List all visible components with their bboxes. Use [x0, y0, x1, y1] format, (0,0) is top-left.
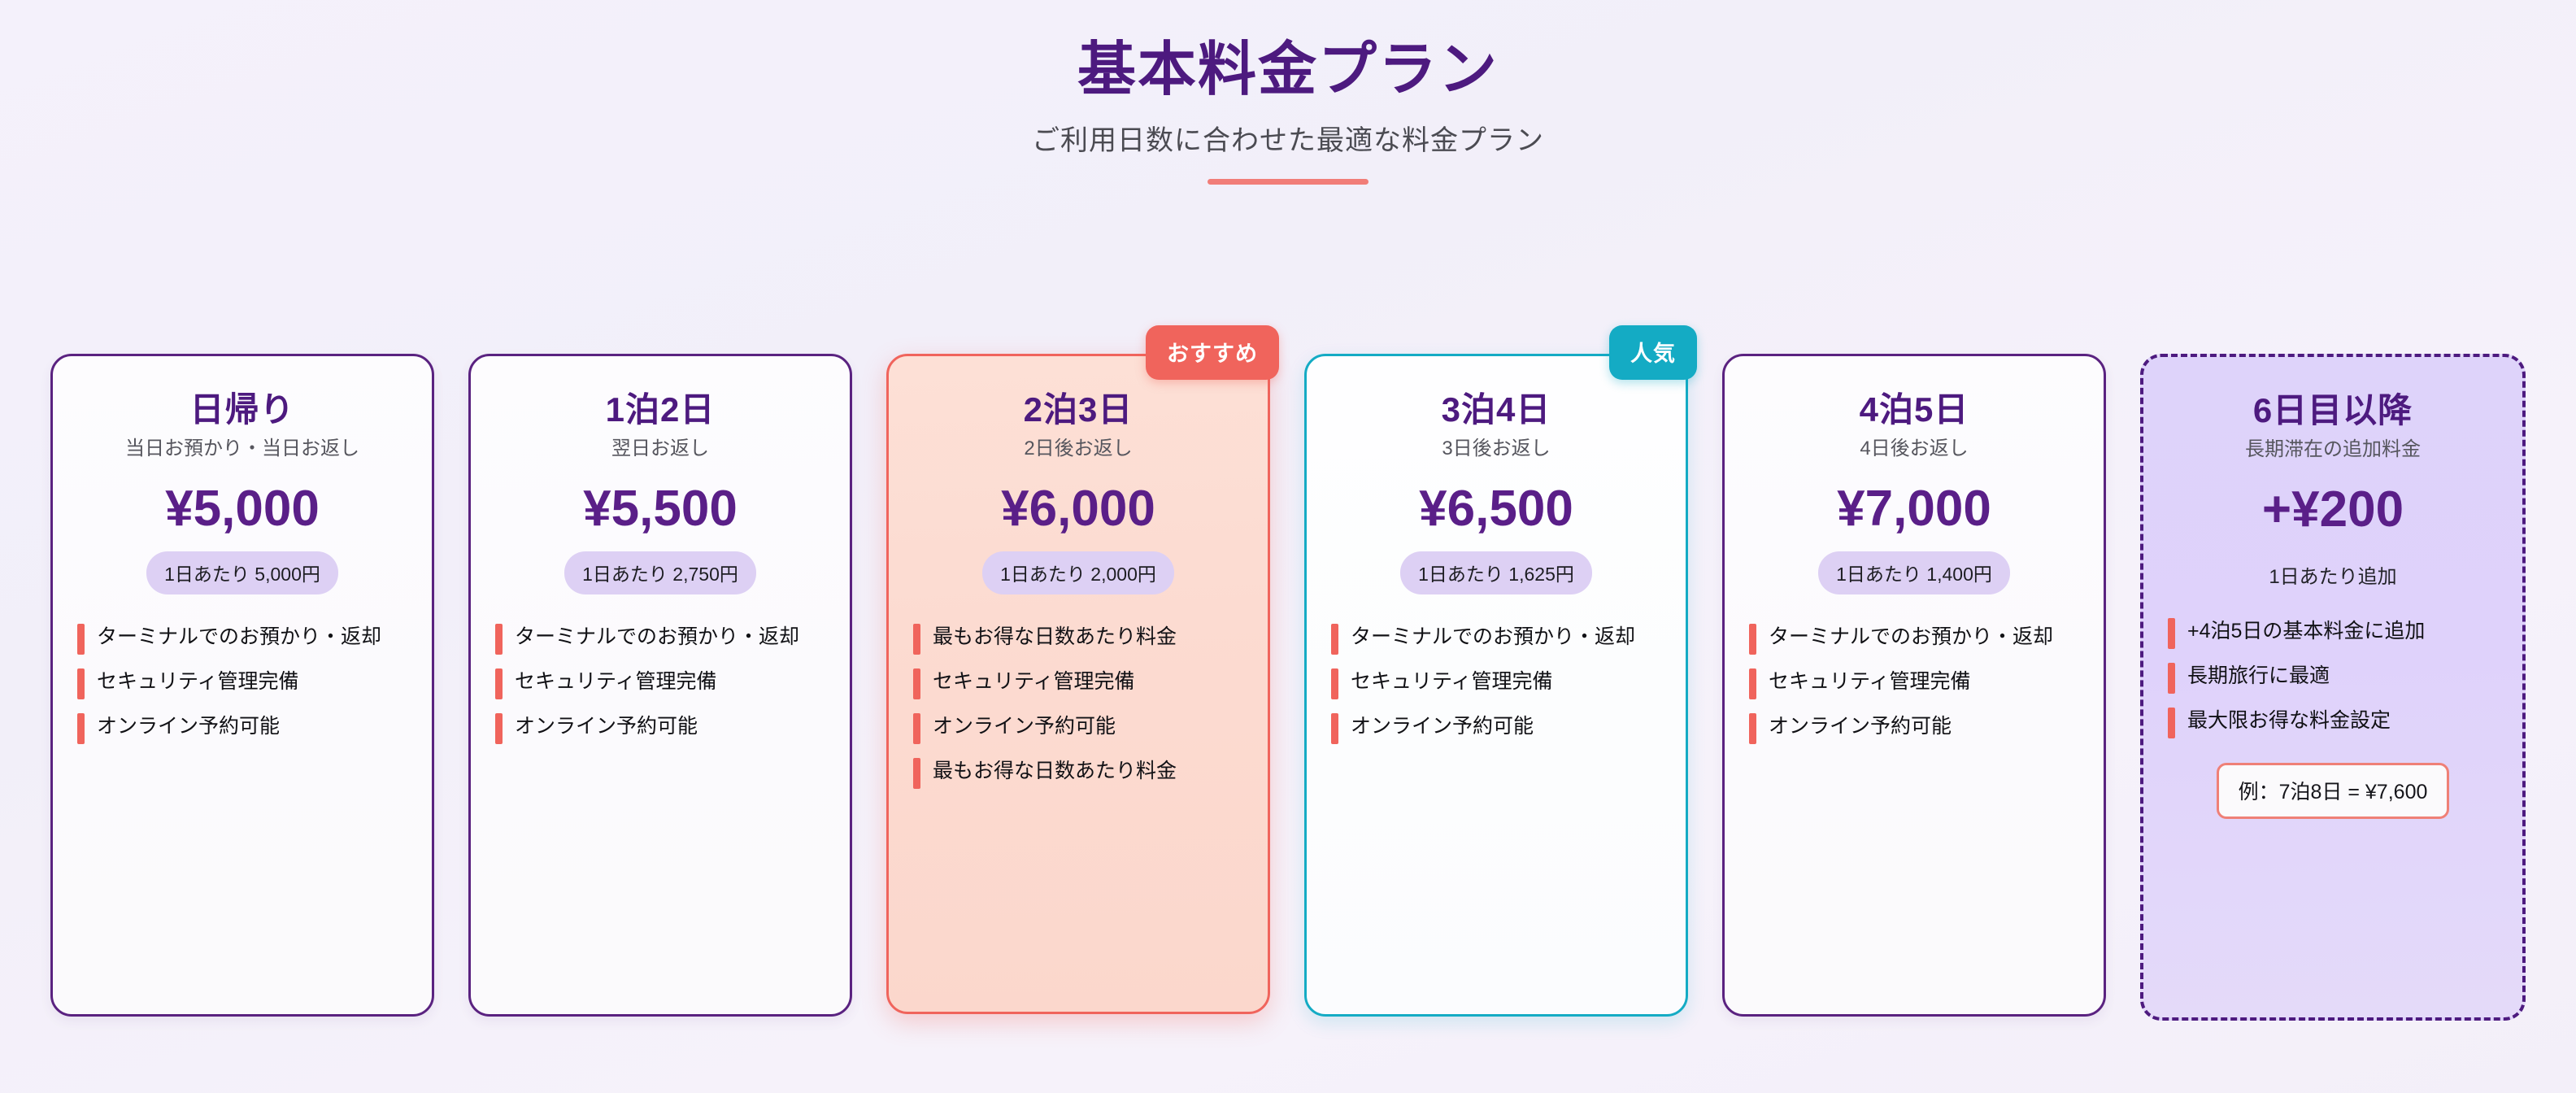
feature-text: 最大限お得な料金設定 — [2187, 708, 2391, 734]
feature-text: ターミナルでのお預かり・返却 — [1351, 624, 1635, 651]
card-title: 6日目以降 — [2168, 391, 2498, 430]
feature-text: セキュリティ管理完備 — [515, 668, 717, 695]
feature-text: オンライン予約可能 — [97, 713, 280, 740]
feature-list: ターミナルでのお預かり・返却セキュリティ管理完備オンライン予約可能 — [495, 624, 825, 744]
card-title: 2泊3日 — [913, 390, 1243, 429]
feature-bullet-bar-icon — [1749, 668, 1756, 699]
feature-item: ターミナルでのお預かり・返却 — [1749, 624, 2079, 655]
card-spacer — [1749, 744, 2079, 990]
feature-list: +4泊5日の基本料金に追加長期旅行に最適最大限お得な料金設定 — [2168, 618, 2498, 738]
card-price: ¥7,000 — [1749, 482, 2079, 535]
feature-item: 最大限お得な料金設定 — [2168, 708, 2498, 738]
feature-item: ターミナルでのお預かり・返却 — [495, 624, 825, 655]
feature-item: ターミナルでのお預かり・返却 — [1331, 624, 1661, 655]
card-subtitle: 当日お預かり・当日お返し — [77, 438, 407, 461]
feature-bullet-bar-icon — [77, 713, 85, 744]
per-day-rate: 1日あたり 1,400円 — [1818, 551, 2010, 594]
feature-item: セキュリティ管理完備 — [1331, 668, 1661, 699]
pricing-card-three-nights[interactable]: 人気3泊4日3日後お返し¥6,5001日あたり 1,625円ターミナルでのお預か… — [1304, 354, 1688, 1017]
feature-bullet-bar-icon — [913, 758, 920, 789]
feature-text: 最もお得な日数あたり料金 — [933, 758, 1177, 785]
feature-bullet-bar-icon — [913, 713, 920, 744]
page-title: 基本料金プラン — [0, 37, 2576, 103]
feature-text: 最もお得な日数あたり料金 — [933, 624, 1177, 651]
feature-bullet-bar-icon — [1749, 713, 1756, 744]
feature-item: オンライン予約可能 — [77, 713, 407, 744]
feature-list: 最もお得な日数あたり料金セキュリティ管理完備オンライン予約可能最もお得な日数あた… — [913, 624, 1243, 789]
card-spacer — [495, 744, 825, 990]
card-title: 3泊4日 — [1331, 390, 1661, 429]
feature-bullet-bar-icon — [1331, 624, 1338, 655]
pricing-card-day-trip[interactable]: 日帰り当日お預かり・当日お返し¥5,0001日あたり 5,000円ターミナルでの… — [50, 354, 434, 1017]
card-spacer — [1331, 744, 1661, 990]
feature-text: オンライン予約可能 — [515, 713, 698, 740]
feature-text: ターミナルでのお預かり・返却 — [97, 624, 381, 651]
feature-list: ターミナルでのお預かり・返却セキュリティ管理完備オンライン予約可能 — [1331, 624, 1661, 744]
feature-item: オンライン予約可能 — [913, 713, 1243, 744]
card-price: ¥6,000 — [913, 482, 1243, 535]
feature-bullet-bar-icon — [1331, 713, 1338, 744]
feature-bullet-bar-icon — [1331, 668, 1338, 699]
feature-bullet-bar-icon — [913, 624, 920, 655]
per-day-rate: 1日あたり追加 — [2168, 560, 2498, 589]
feature-text: オンライン予約可能 — [933, 713, 1116, 740]
feature-item: 長期旅行に最適 — [2168, 663, 2498, 694]
feature-list: ターミナルでのお預かり・返却セキュリティ管理完備オンライン予約可能 — [77, 624, 407, 744]
pricing-card-two-nights[interactable]: おすすめ2泊3日2日後お返し¥6,0001日あたり 2,000円最もお得な日数あ… — [886, 354, 1270, 1014]
feature-text: ターミナルでのお預かり・返却 — [1769, 624, 2053, 651]
card-title: 1泊2日 — [495, 390, 825, 429]
page-subtitle: ご利用日数に合わせた最適な料金プラン — [0, 118, 2576, 158]
feature-text: 長期旅行に最適 — [2187, 663, 2330, 690]
card-subtitle: 4日後お返し — [1749, 438, 2079, 461]
per-day-rate: 1日あたり 2,750円 — [564, 551, 756, 594]
pricing-card-four-nights[interactable]: 4泊5日4日後お返し¥7,0001日あたり 1,400円ターミナルでのお預かり・… — [1722, 354, 2106, 1017]
feature-text: +4泊5日の基本料金に追加 — [2187, 618, 2425, 645]
card-subtitle: 長期滞在の追加料金 — [2168, 438, 2498, 462]
feature-item: オンライン予約可能 — [1749, 713, 2079, 744]
feature-item: セキュリティ管理完備 — [913, 668, 1243, 699]
feature-text: セキュリティ管理完備 — [1769, 668, 1971, 695]
card-spacer — [2168, 819, 2498, 993]
card-title: 日帰り — [77, 390, 407, 429]
example-price-box: 例：7泊8日 = ¥7,600 — [2217, 763, 2450, 819]
page-header: 基本料金プラン ご利用日数に合わせた最適な料金プラン — [0, 0, 2576, 185]
feature-text: セキュリティ管理完備 — [1351, 668, 1553, 695]
feature-item: セキュリティ管理完備 — [77, 668, 407, 699]
card-subtitle: 3日後お返し — [1331, 438, 1661, 461]
feature-bullet-bar-icon — [2168, 618, 2175, 649]
card-price: ¥6,500 — [1331, 482, 1661, 535]
per-day-rate: 1日あたり 5,000円 — [146, 551, 338, 594]
feature-item: 最もお得な日数あたり料金 — [913, 624, 1243, 655]
per-day-rate: 1日あたり 1,625円 — [1400, 551, 1592, 594]
popular-badge: 人気 — [1609, 325, 1697, 380]
feature-list: ターミナルでのお預かり・返却セキュリティ管理完備オンライン予約可能 — [1749, 624, 2079, 744]
card-spacer — [77, 744, 407, 990]
feature-item: オンライン予約可能 — [1331, 713, 1661, 744]
card-spacer — [913, 789, 1243, 987]
feature-item: セキュリティ管理完備 — [495, 668, 825, 699]
feature-item: 最もお得な日数あたり料金 — [913, 758, 1243, 789]
recommended-badge: おすすめ — [1146, 325, 1279, 380]
feature-item: セキュリティ管理完備 — [1749, 668, 2079, 699]
feature-text: オンライン予約可能 — [1351, 713, 1534, 740]
feature-bullet-bar-icon — [1749, 624, 1756, 655]
card-price: +¥200 — [2168, 483, 2498, 536]
title-divider — [1207, 179, 1368, 185]
pricing-card-one-night[interactable]: 1泊2日翌日お返し¥5,5001日あたり 2,750円ターミナルでのお預かり・返… — [468, 354, 852, 1017]
feature-bullet-bar-icon — [495, 624, 503, 655]
pricing-cards-row: 日帰り当日お預かり・当日お返し¥5,0001日あたり 5,000円ターミナルでの… — [50, 354, 2526, 1021]
feature-bullet-bar-icon — [495, 668, 503, 699]
feature-bullet-bar-icon — [495, 713, 503, 744]
feature-bullet-bar-icon — [77, 668, 85, 699]
feature-bullet-bar-icon — [2168, 663, 2175, 694]
feature-text: オンライン予約可能 — [1769, 713, 1952, 740]
card-title: 4泊5日 — [1749, 390, 2079, 429]
feature-item: ターミナルでのお預かり・返却 — [77, 624, 407, 655]
feature-text: セキュリティ管理完備 — [933, 668, 1135, 695]
feature-item: +4泊5日の基本料金に追加 — [2168, 618, 2498, 649]
feature-bullet-bar-icon — [2168, 708, 2175, 738]
card-price: ¥5,500 — [495, 482, 825, 535]
pricing-card-sixth-day-onward[interactable]: 6日目以降長期滞在の追加料金+¥2001日あたり追加+4泊5日の基本料金に追加長… — [2140, 354, 2526, 1021]
feature-text: セキュリティ管理完備 — [97, 668, 299, 695]
feature-bullet-bar-icon — [77, 624, 85, 655]
feature-text: ターミナルでのお預かり・返却 — [515, 624, 799, 651]
feature-item: オンライン予約可能 — [495, 713, 825, 744]
feature-bullet-bar-icon — [913, 668, 920, 699]
card-subtitle: 翌日お返し — [495, 438, 825, 461]
card-price: ¥5,000 — [77, 482, 407, 535]
card-subtitle: 2日後お返し — [913, 438, 1243, 461]
per-day-rate: 1日あたり 2,000円 — [982, 551, 1174, 594]
